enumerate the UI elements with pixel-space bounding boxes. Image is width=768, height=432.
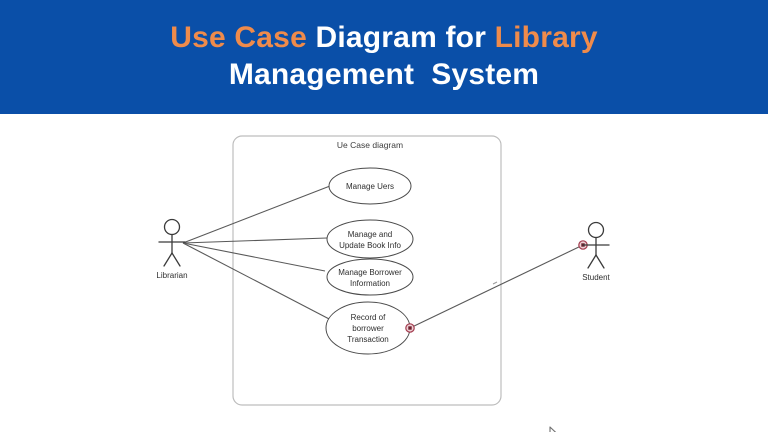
title-line-1: Use Case Diagram for Library bbox=[170, 20, 597, 57]
actor-label-librarian: Librarian bbox=[156, 271, 187, 280]
use-case-label-line-3: Transaction bbox=[347, 335, 389, 344]
actor-leg-right bbox=[596, 255, 604, 268]
actor-student[interactable]: Student bbox=[582, 223, 610, 283]
use-case-uc2[interactable]: Manage and Update Book Info bbox=[327, 220, 413, 258]
use-case-uc1[interactable]: Manage Uers bbox=[329, 168, 411, 204]
actor-label-student: Student bbox=[582, 273, 610, 282]
use-case-label-line-2: Information bbox=[350, 279, 390, 288]
title-highlight-use-case: Use Case bbox=[170, 21, 315, 54]
use-case-label-line-1: Record of bbox=[351, 313, 386, 322]
actor-leg-left bbox=[164, 253, 172, 266]
mouse-pointer-icon bbox=[550, 427, 561, 432]
use-case-label-line-2: Update Book Info bbox=[339, 241, 401, 250]
use-case-label-line-1: Manage and bbox=[348, 230, 392, 239]
actor-leg-left bbox=[588, 255, 596, 268]
screenshot-root: Use Case Diagram for Library Management … bbox=[0, 0, 768, 432]
actor-librarian[interactable]: Librarian bbox=[156, 220, 187, 281]
use-case-uc3[interactable]: Manage Borrower Information bbox=[327, 259, 413, 295]
title-banner: Use Case Diagram for Library Management … bbox=[0, 0, 768, 114]
use-case-label-line-1: Manage Borrower bbox=[338, 268, 402, 277]
use-case-uc4[interactable]: Record of borrower Transaction bbox=[326, 302, 410, 354]
actor-head bbox=[589, 223, 604, 238]
title-highlight-library: Library bbox=[495, 21, 598, 54]
actor-leg-right bbox=[172, 253, 180, 266]
system-boundary-label: Ue Case diagram bbox=[337, 140, 403, 150]
actor-head bbox=[165, 220, 180, 235]
use-case-ellipse bbox=[327, 259, 413, 295]
title-plain-diagram-for: Diagram for bbox=[316, 21, 495, 54]
use-case-label-line-1: Manage Uers bbox=[346, 182, 394, 191]
diagram-canvas: Ue Case diagram Manage Uers Manage and U… bbox=[0, 114, 768, 432]
use-case-label-line-2: borrower bbox=[352, 324, 384, 333]
connector-endpoint-uc4[interactable] bbox=[406, 324, 414, 332]
use-case-ellipse bbox=[327, 220, 413, 258]
title-line-2: Management System bbox=[229, 57, 539, 94]
